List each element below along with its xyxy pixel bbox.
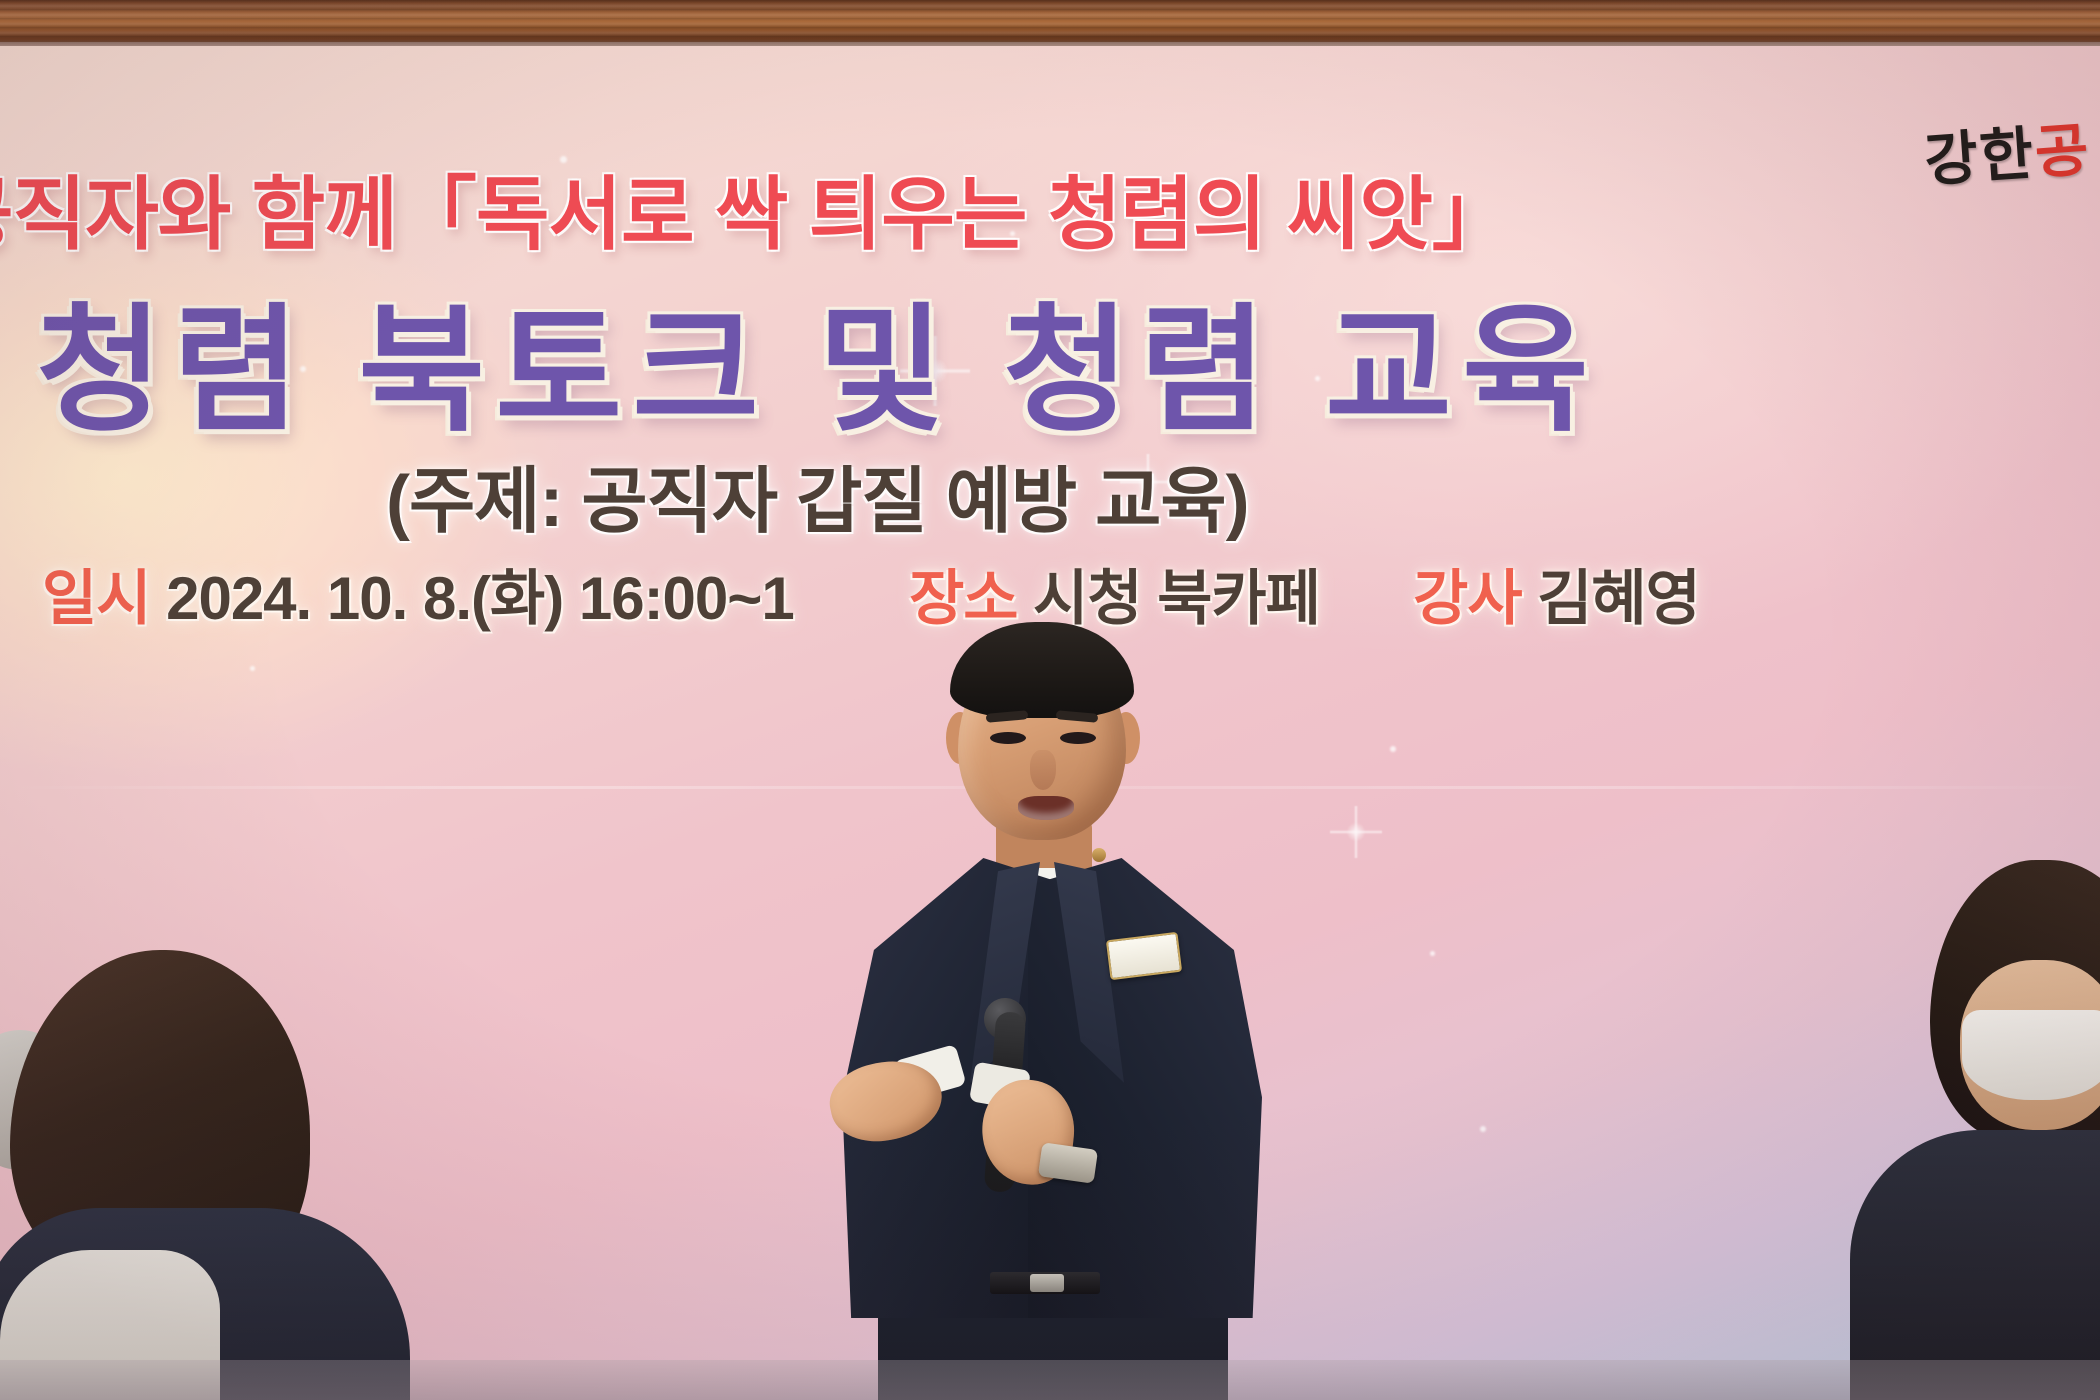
sparkle-dot [1480,1126,1486,1132]
speaker-figure [790,600,1310,1400]
info-date-label: 일시 [42,565,150,632]
info-speaker-value: 김혜영 [1537,565,1700,632]
brand-logo-part1: 강한 [1922,119,2037,195]
banner-subtitle: (주제: 공직자 갑질 예방 교육) [386,442,1249,547]
sparkle-dot [250,666,255,671]
speaker-mouth [1018,796,1074,820]
ceiling-wood-trim [0,0,2100,42]
brand-logo-part2: 공 [2033,115,2093,187]
speaker-eye-left [990,732,1026,744]
banner-title-main: 청렴 북토크 및 청렴 교육 [36,258,1599,458]
sparkle-dot [1430,951,1435,956]
sparkle-starburst [1330,806,1382,858]
speaker-nose [1030,750,1056,790]
speaker-hair [950,622,1134,718]
info-speaker-label: 강사 [1413,565,1521,632]
info-date-value: 2024. 10. 8.(화) 16:00~1 [166,565,794,632]
banner-headline-red: 공직자와 함께「독서로 싹 틔우는 청렴의 씨앗」 [0,150,1511,266]
floor-strip [0,1360,2100,1400]
sparkle-dot [1390,746,1396,752]
brand-logo: 강한공 [1921,102,2093,197]
speaker-eye-right [1060,732,1096,744]
audience-right-face-mask [1962,1010,2100,1100]
speaker-belt-buckle [1030,1274,1064,1292]
speaker-lapel-pin [1092,848,1106,862]
photo-canvas: 공직자와 함께「독서로 싹 틔우는 청렴의 씨앗」 청렴 북토크 및 청렴 교육… [0,0,2100,1400]
speaker-jacket-right [1028,858,1262,1318]
